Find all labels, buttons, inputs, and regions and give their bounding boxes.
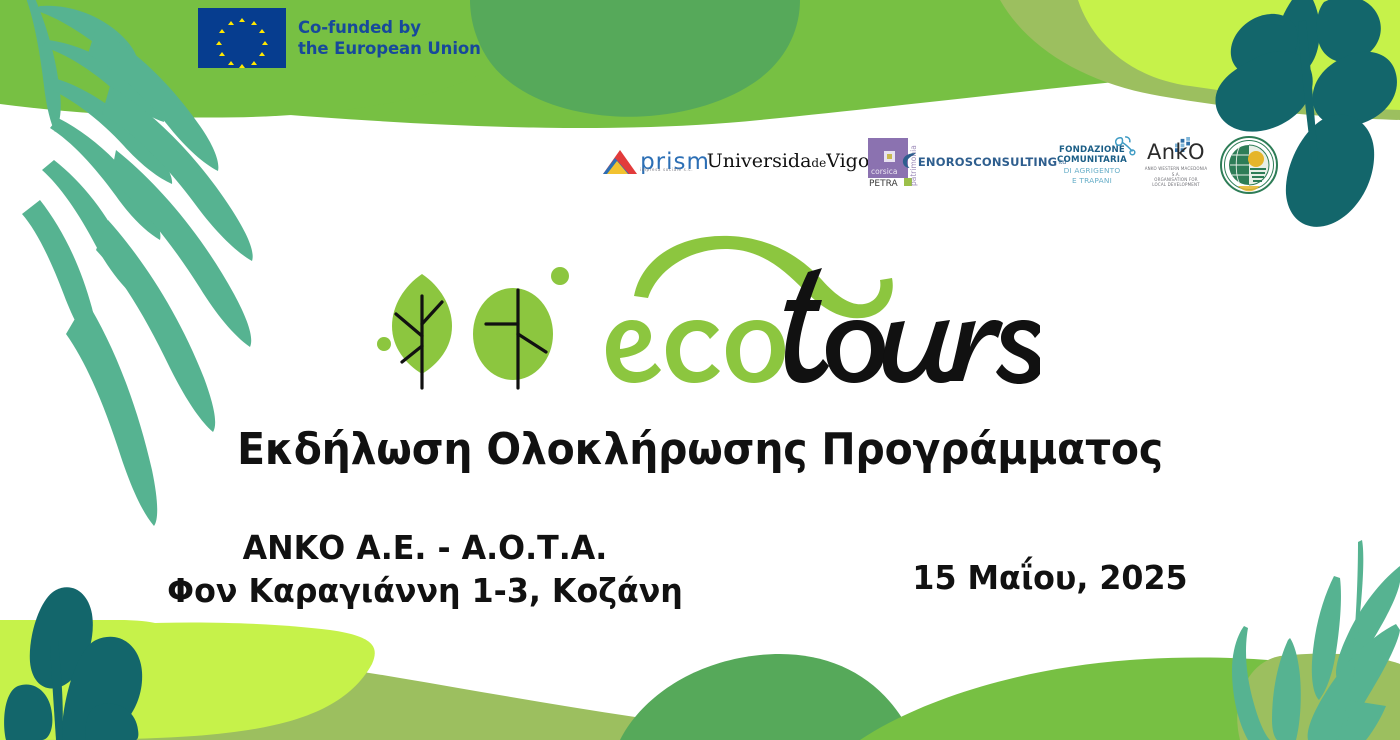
enoros-wordmark: ENOROSCONSULTING	[918, 155, 1057, 169]
event-headline: Εκδήλωση Ολοκλήρωσης Προγράμματος	[49, 424, 1351, 475]
partner-logo-anko: AnkO ANKO WESTERN MACEDONIA S.A. ORGANIS…	[1140, 139, 1212, 191]
eu-flag-icon	[198, 8, 286, 68]
brand-word-eco	[606, 320, 785, 383]
fondazione-line3: DI AGRIGENTO	[1064, 166, 1121, 176]
seal-icon	[1220, 136, 1278, 194]
eu-funding-line1: Co-funded by	[298, 17, 481, 38]
poster-canvas: Co-funded by the European Union prism im…	[0, 0, 1400, 740]
anko-wordmark: AnkO	[1147, 142, 1205, 163]
vigo-main: Universida	[707, 150, 812, 172]
prism-tagline: impresa sociale s.c.	[640, 167, 693, 172]
ecotours-logo	[370, 228, 1040, 398]
anko-sub3: LOCAL DEVELOPMENT	[1152, 182, 1200, 187]
svg-text:PETRA: PETRA	[869, 179, 899, 188]
prism-triangle-icon	[602, 149, 638, 175]
partner-logo-local-development-seal	[1220, 136, 1278, 194]
fondazione-sprout-icon	[1114, 135, 1138, 161]
vigo-wordmark: UniversidadeVigo	[707, 150, 870, 172]
anko-sub1: ANKO WESTERN MACEDONIA S.A.	[1140, 166, 1212, 177]
fondazione-line4: E TRAPANI	[1072, 176, 1112, 186]
enoros-mark-icon	[902, 152, 917, 173]
partner-logo-universidade-vigo: UniversidadeVigo	[722, 146, 854, 176]
partner-logo-fondazione-comunitaria: FONDAZIONE COMUNITARIA DI AGRIGENTO E TR…	[1048, 139, 1136, 191]
event-date: 15 Μαΐου, 2025	[839, 558, 1261, 597]
event-venue: ΑΝΚΟ Α.Ε. - Α.Ο.Τ.Α. Φον Καραγιάννη 1-3,…	[153, 527, 696, 613]
event-venue-line1: ΑΝΚΟ Α.Ε. - Α.Ο.Τ.Α.	[153, 527, 696, 570]
eu-funding-logo: Co-funded by the European Union	[198, 8, 481, 68]
vigo-de: de	[811, 156, 826, 170]
partner-logo-prism: prism impresa sociale s.c.	[600, 140, 712, 184]
partner-logo-enoros-consulting: ENOROSCONSULTING ltd	[925, 150, 1043, 174]
oval-tree-icon	[473, 267, 569, 388]
eu-funding-line2: the European Union	[298, 38, 481, 59]
leaf-tree-icon	[377, 274, 452, 388]
event-venue-line2: Φον Καραγιάννη 1-3, Κοζάνη	[153, 570, 696, 613]
vigo-end: Vigo	[826, 150, 869, 172]
svg-text:corsica: corsica	[871, 167, 898, 176]
brand-swoosh	[634, 236, 893, 318]
eu-funding-text: Co-funded by the European Union	[298, 17, 481, 59]
